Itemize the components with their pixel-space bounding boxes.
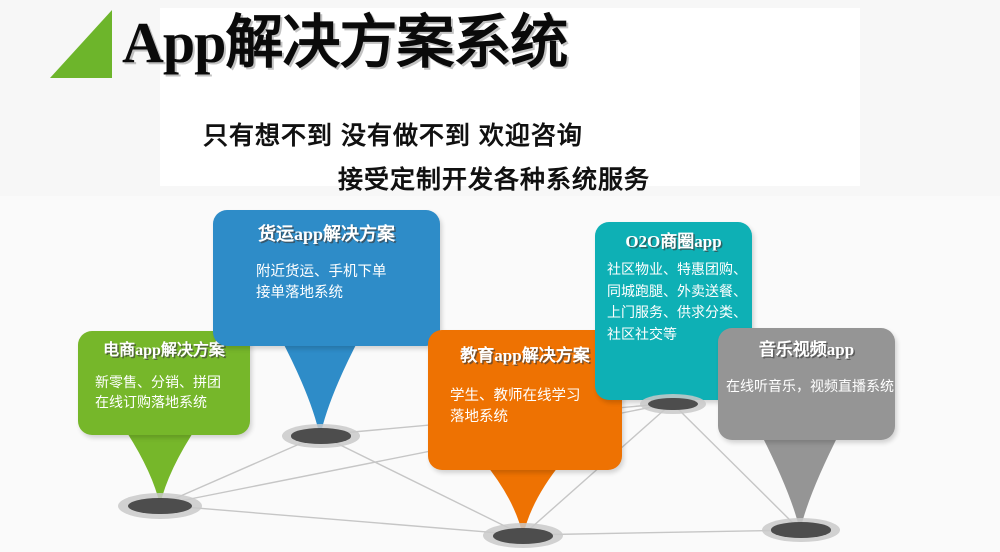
pin-music-video-base	[762, 518, 840, 542]
pin-music-video-title: 音乐视频app	[726, 338, 887, 362]
slide-canvas: App解决方案系统 只有想不到 没有做不到 欢迎咨询 接受定制开发各种系统服务 …	[0, 0, 1000, 552]
pin-music-video-stem	[0, 0, 1000, 552]
pin-music-video-body: 在线听音乐，视频直播系统	[726, 376, 887, 396]
base-core	[771, 522, 830, 537]
pin-music-video-body-line: 在线听音乐，视频直播系统	[726, 376, 887, 396]
pin-music-video-card[interactable]: 音乐视频app 在线听音乐，视频直播系统	[718, 328, 895, 440]
